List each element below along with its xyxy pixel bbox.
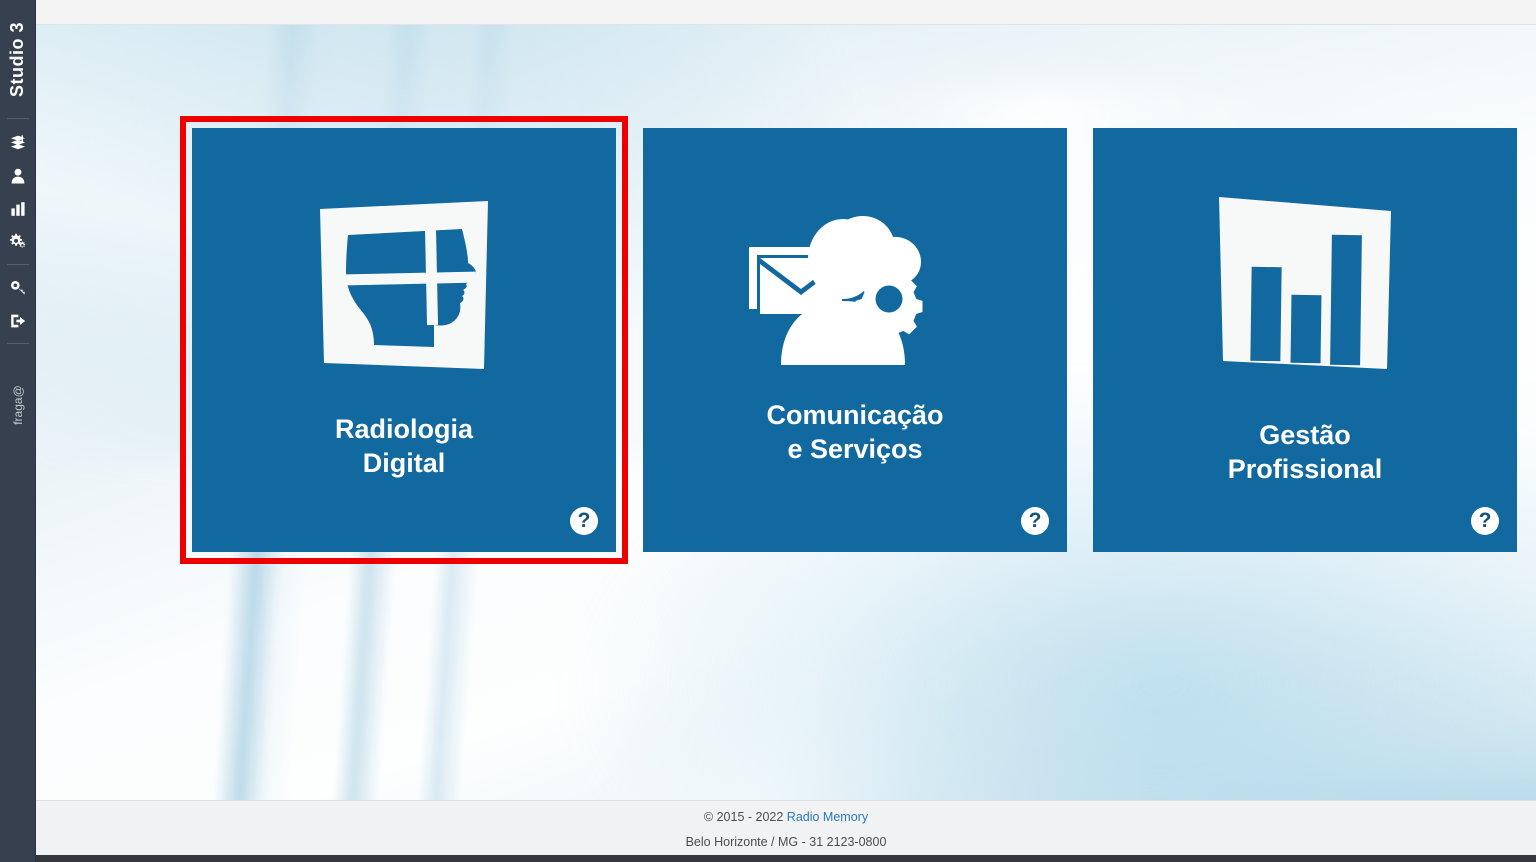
page-footer: © 2015 - 2022 Radio Memory Belo Horizont… xyxy=(36,800,1536,855)
sidebar-item-relatorios[interactable] xyxy=(0,192,36,225)
sidebar-divider-bottom xyxy=(7,343,29,344)
module-card-radiologia-digital[interactable]: Radiologia Digital ? xyxy=(192,128,616,552)
footer-copyright-text: © 2015 - 2022 xyxy=(704,810,787,824)
sidebar-item-senha[interactable] xyxy=(0,271,36,304)
top-bar xyxy=(36,0,1536,25)
help-icon[interactable]: ? xyxy=(1021,507,1049,535)
app-brand-label: Studio 3 xyxy=(7,22,28,97)
help-icon[interactable]: ? xyxy=(1471,507,1499,535)
sidebar-user[interactable]: fraga@ xyxy=(0,350,36,460)
sidebar-user-label: fraga@ xyxy=(11,385,25,425)
application-window: Studio 3 xyxy=(0,0,1536,862)
help-icon[interactable]: ? xyxy=(570,507,598,535)
card-title: Comunicação e Serviços xyxy=(653,398,1057,466)
cloud-user-mail-gear-icon xyxy=(643,190,1067,386)
gears-icon xyxy=(8,232,27,251)
key-icon xyxy=(9,279,27,297)
sidebar-item-pacientes[interactable] xyxy=(0,159,36,192)
module-card-gestao-profissional[interactable]: Gestão Profissional ? xyxy=(1093,128,1517,552)
app-brand: Studio 3 xyxy=(0,0,36,118)
sidebar-divider-top xyxy=(7,118,29,119)
footer-address: Belo Horizonte / MG - 31 2123-0800 xyxy=(36,835,1536,849)
help-icon-label: ? xyxy=(578,510,591,531)
sidebar-item-agenda[interactable] xyxy=(0,126,36,159)
logout-icon xyxy=(9,312,27,330)
person-icon xyxy=(9,167,27,185)
stack-layers-icon xyxy=(9,134,27,152)
module-card-comunicacao-e-servicos[interactable]: Comunicação e Serviços ? xyxy=(643,128,1067,552)
bar-chart-icon xyxy=(9,200,27,218)
card-title: Radiologia Digital xyxy=(202,412,606,480)
content-canvas: Radiologia Digital ? xyxy=(36,25,1536,800)
help-icon-label: ? xyxy=(1479,510,1492,531)
sidebar-divider-middle xyxy=(7,264,29,265)
window-bottom-bar xyxy=(0,855,1536,862)
card-title: Gestão Profissional xyxy=(1103,418,1507,486)
bar-chart-square-icon xyxy=(1093,190,1517,386)
help-icon-label: ? xyxy=(1029,510,1042,531)
sidebar-item-configuracoes[interactable] xyxy=(0,225,36,258)
footer-company-link[interactable]: Radio Memory xyxy=(787,810,868,824)
head-xray-icon xyxy=(192,190,616,386)
left-sidebar: Studio 3 xyxy=(0,0,36,862)
main-content: Radiologia Digital ? xyxy=(36,0,1536,862)
footer-copyright: © 2015 - 2022 Radio Memory xyxy=(36,810,1536,824)
sidebar-item-sair[interactable] xyxy=(0,304,36,337)
